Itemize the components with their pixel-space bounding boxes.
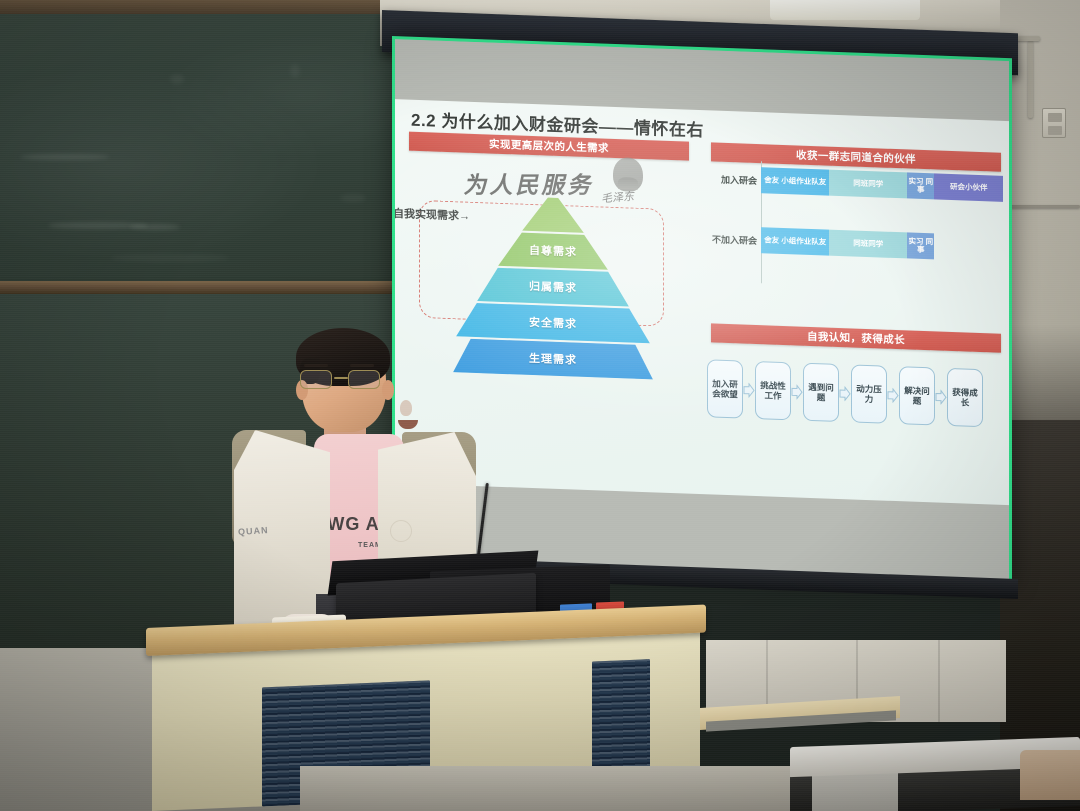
flow-arrow-icon — [839, 386, 851, 401]
wall-outlet — [1042, 108, 1066, 138]
jacket-logo: QUAN — [238, 525, 269, 537]
flow-node: 获得成长 — [947, 368, 983, 427]
pyramid-tier-label: 自尊需求 — [529, 242, 577, 260]
presenter-brow-right — [350, 364, 374, 367]
presentation-slide: 2.2 为什么加入财金研会——情怀在右 实现更高层次的人生需求 收获一群志同道合… — [395, 99, 1009, 505]
bar-track: 舍友 小组作业队友同班同学实习 同事 — [761, 227, 1003, 262]
banner-right-second: 自我认知，获得成长 — [711, 323, 1001, 352]
pyramid-tier-shape — [522, 196, 584, 233]
flow-node: 遇到问题 — [803, 363, 839, 422]
glasses-bridge — [334, 377, 348, 379]
screen-surface: 2.2 为什么加入财金研会——情怀在右 实现更高层次的人生需求 收获一群志同道合… — [395, 39, 1009, 583]
bar-row: 加入研会舍友 小组作业队友同班同学实习 同事研会小伙伴 — [711, 165, 1003, 201]
student-chair-seat — [1020, 750, 1080, 800]
growth-flow-chart: 加入研会欲望挑战性工作遇到问题动力压力解决问题获得成长 — [707, 353, 1005, 434]
flow-node-label: 挑战性工作 — [757, 380, 789, 401]
bar-segment: 实习 同事 — [907, 232, 934, 259]
pyramid-tier-shape: 归属需求 — [477, 267, 629, 307]
pyramid-tier-label: 安全需求 — [529, 314, 577, 332]
flow-node-label: 解决问题 — [901, 385, 933, 406]
bar-segment: 同班同学 — [829, 230, 907, 259]
flow-node: 解决问题 — [899, 366, 935, 425]
pyramid-tier: 生理需求 — [453, 337, 653, 380]
bar-row-label: 不加入研会 — [711, 225, 761, 253]
floor — [300, 766, 820, 811]
mao-portrait-icon — [613, 157, 643, 192]
presenter-brow-left — [304, 364, 328, 367]
flow-arrow-icon — [743, 382, 755, 397]
flow-node-label: 动力压力 — [853, 383, 885, 404]
chalkboard-upper — [0, 14, 420, 286]
bar-segment: 舍友 小组作业队友 — [761, 167, 829, 195]
bar-segment: 实习 同事 — [907, 172, 934, 199]
ceiling-conduit-vertical — [1028, 40, 1033, 118]
bar-row-label: 加入研会 — [711, 165, 761, 193]
pyramid-tier-label: 生理需求 — [529, 350, 577, 368]
flow-arrow-icon — [887, 387, 899, 402]
flow-node-label: 加入研会欲望 — [709, 378, 741, 399]
flow-node: 挑战性工作 — [755, 361, 791, 420]
presenter-nose — [400, 400, 412, 416]
maslow-pyramid: 自我实现需求→ 自尊需求归属需求安全需求生理需求 — [453, 193, 653, 380]
lecture-hall-photo: 2.2 为什么加入财金研会——情怀在右 实现更高层次的人生需求 收获一群志同道合… — [0, 0, 1080, 811]
pyramid-tier-label: 归属需求 — [529, 278, 577, 296]
pyramid-tier-shape: 安全需求 — [456, 302, 650, 343]
flow-arrow-icon — [791, 384, 803, 399]
bar-row: 不加入研会舍友 小组作业队友同班同学实习 同事 — [711, 225, 1003, 261]
glasses-lens-right — [348, 370, 380, 389]
bar-segment: 同班同学 — [829, 170, 907, 199]
chalk-ledge — [0, 281, 420, 294]
presenter-mouth — [398, 420, 418, 429]
pyramid-tier-shape: 自尊需求 — [498, 232, 608, 270]
wall-trim-line — [1000, 205, 1080, 208]
flow-node: 动力压力 — [851, 364, 887, 423]
presenter-glasses — [300, 370, 388, 390]
pyramid-tier-shape: 生理需求 — [453, 338, 653, 380]
bar-track: 舍友 小组作业队友同班同学实习 同事研会小伙伴 — [761, 167, 1003, 202]
flow-arrow-icon — [935, 389, 947, 404]
flow-node: 加入研会欲望 — [707, 359, 743, 418]
ceiling-light — [770, 0, 920, 20]
flow-node-label: 遇到问题 — [805, 382, 837, 403]
bar-segment: 研会小伙伴 — [934, 173, 1002, 201]
glasses-lens-left — [300, 370, 332, 389]
partner-bars-chart: 加入研会舍友 小组作业队友同班同学实习 同事研会小伙伴不加入研会舍友 小组作业队… — [711, 165, 1003, 290]
jacket-badge — [390, 520, 412, 542]
flow-node-label: 获得成长 — [949, 387, 981, 408]
bar-segment: 舍友 小组作业队友 — [761, 227, 829, 255]
